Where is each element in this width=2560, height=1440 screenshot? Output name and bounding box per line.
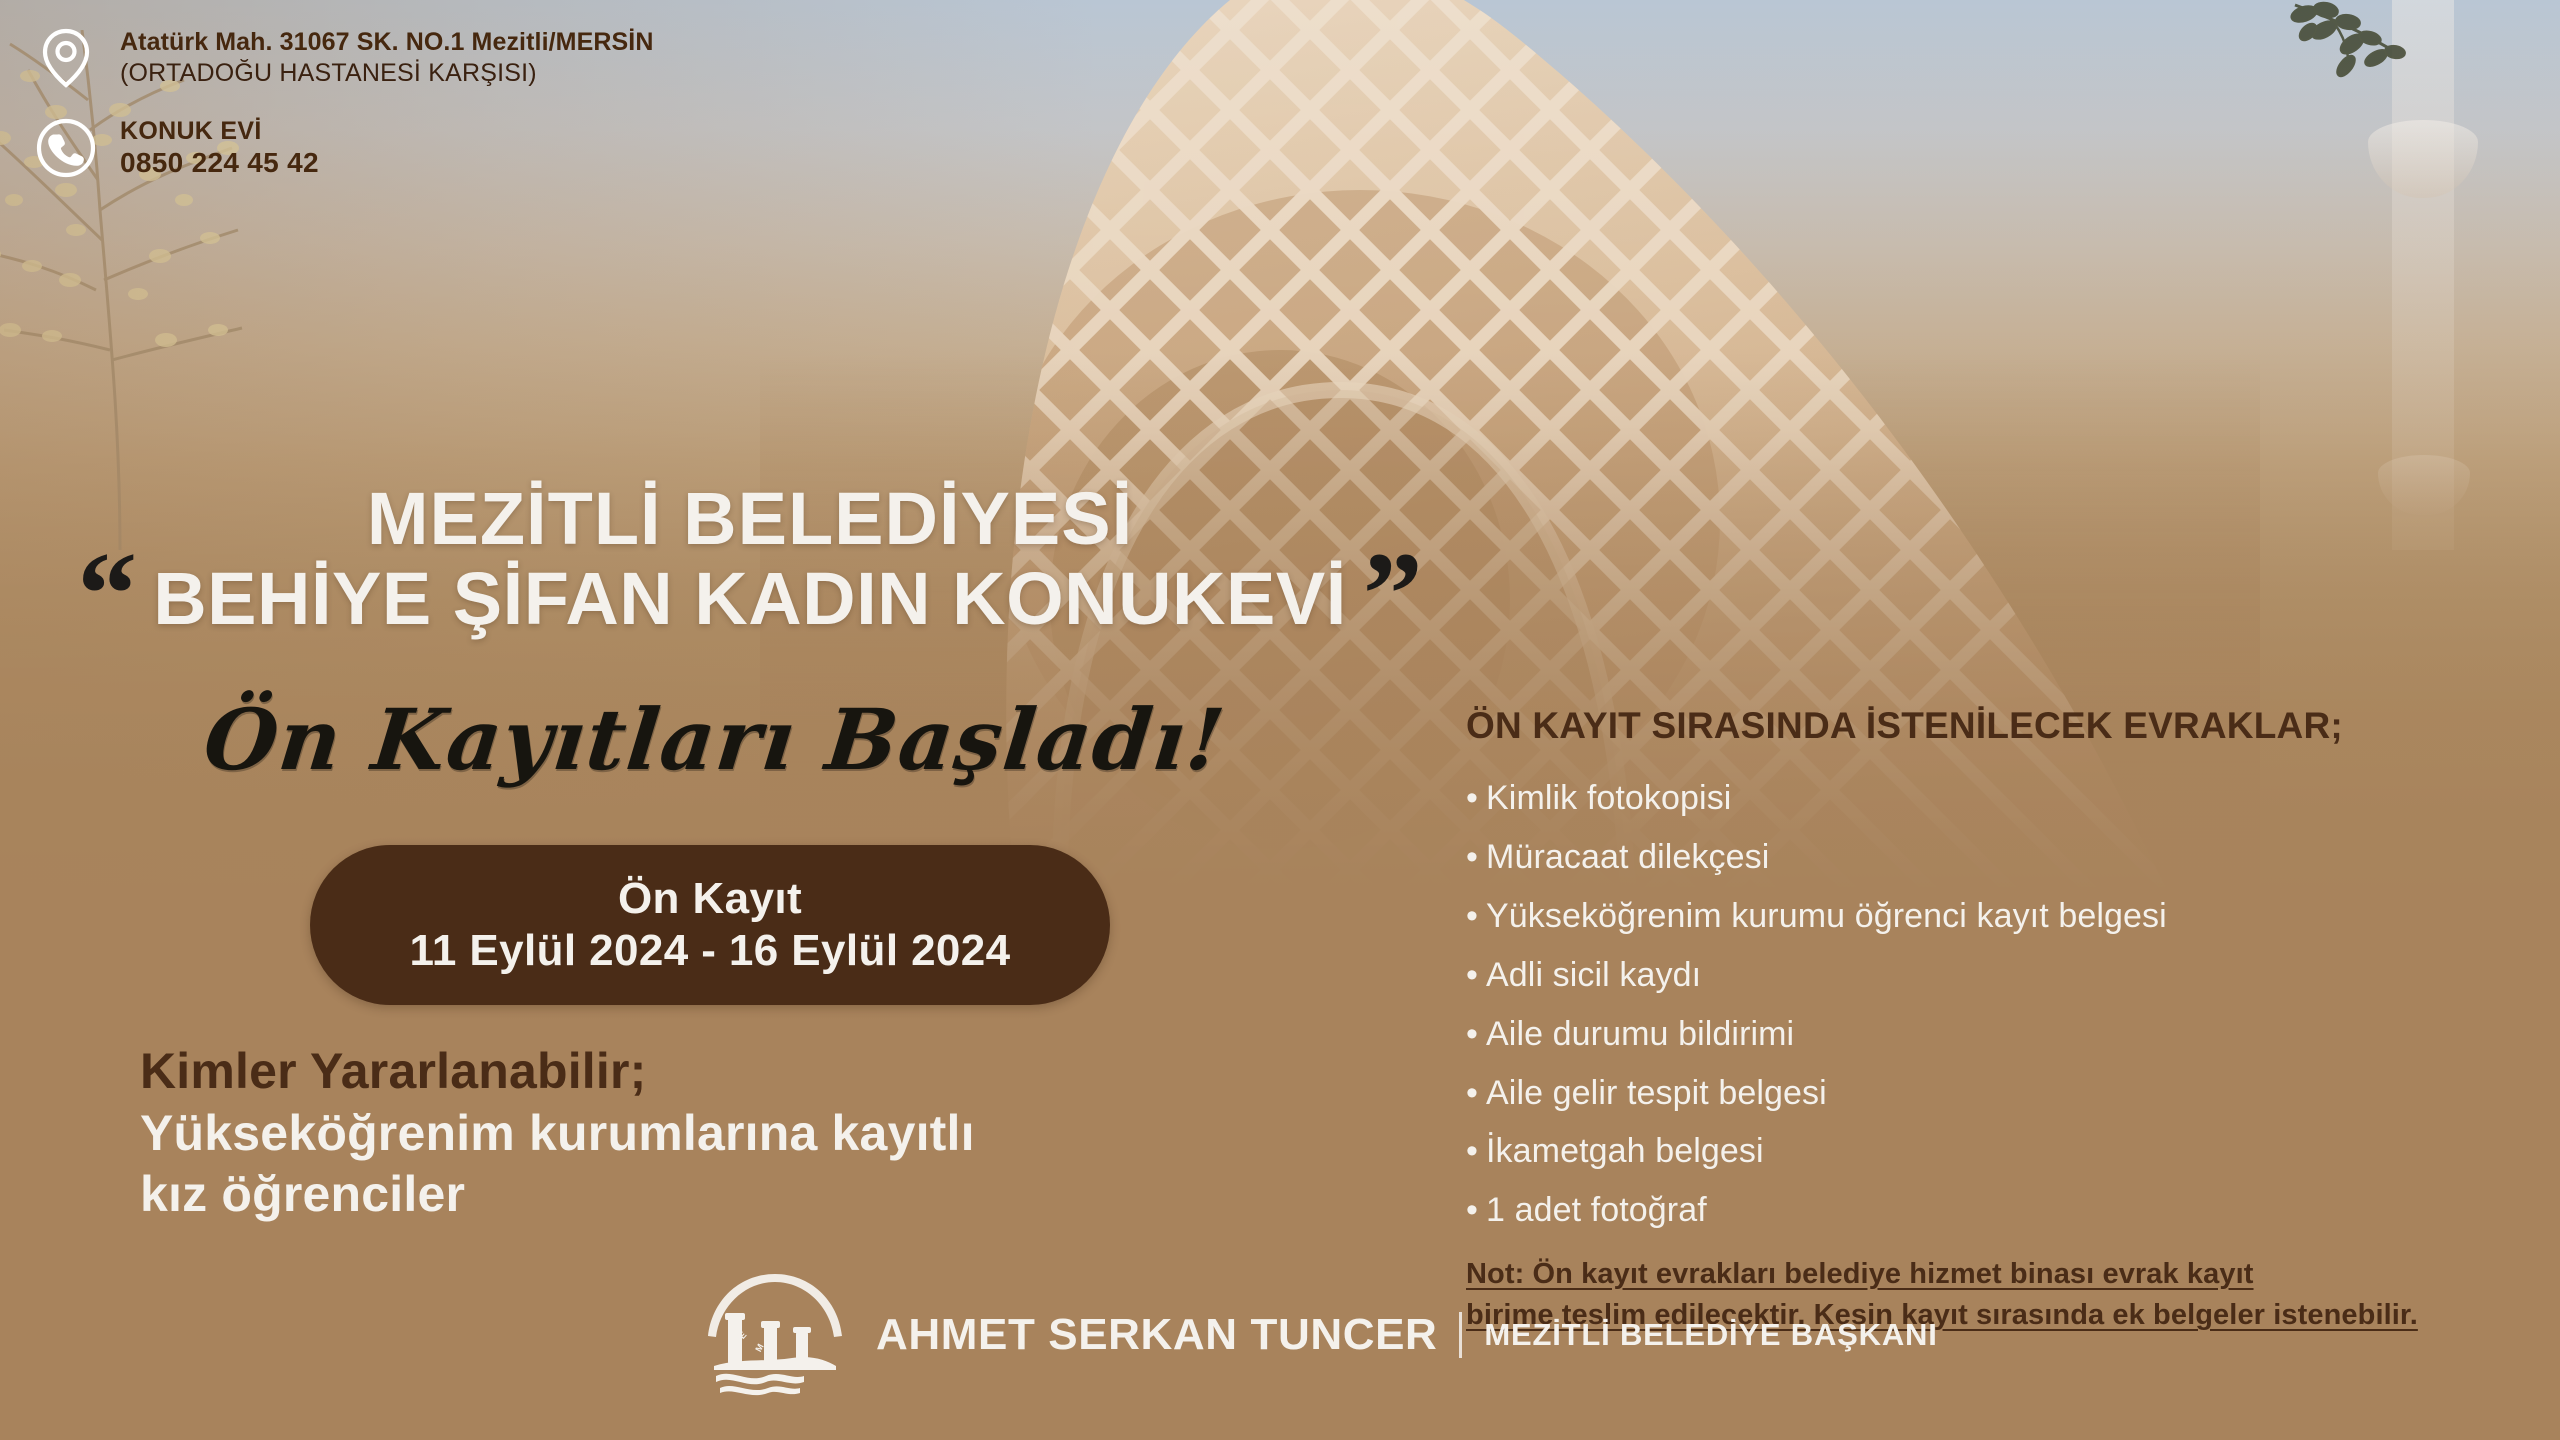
document-list-item: •Aile gelir tespit belgesi: [1466, 1070, 2546, 1117]
bullet-icon: •: [1466, 838, 1478, 876]
document-list-item-label: Kimlik fotokopisi: [1486, 779, 1731, 817]
bullet-icon: •: [1466, 1132, 1478, 1170]
quote-close-mark: ”: [1363, 534, 1423, 654]
bullet-icon: •: [1466, 1015, 1478, 1053]
document-list-item: •1 adet fotoğraf: [1466, 1187, 2546, 1234]
bullet-icon: •: [1466, 897, 1478, 935]
location-pin-icon: [34, 26, 98, 90]
headline-quoted-wrap: “ BEHİYE ŞİFAN KADIN KONUKEVİ ”: [95, 560, 1405, 638]
bullet-icon: •: [1466, 956, 1478, 994]
mayor-role: MEZİTLİ BELEDİYE BAŞKANI: [1484, 1317, 1937, 1353]
document-list-item-label: 1 adet fotoğraf: [1486, 1191, 1707, 1229]
document-list-item: •İkametgah belgesi: [1466, 1128, 2546, 1175]
document-list-item-label: İkametgah belgesi: [1486, 1132, 1764, 1170]
headline-line-1: MEZİTLİ BELEDİYESİ: [0, 480, 1500, 558]
document-list-item: •Kimlik fotokopisi: [1466, 775, 2546, 822]
document-list-item: •Aile durumu bildirimi: [1466, 1011, 2546, 1058]
mayor-name: AHMET SERKAN TUNCER: [876, 1310, 1437, 1360]
footer-block: M E AHMET SERKAN TUNCER MEZİTLİ BELEDİYE…: [700, 1270, 1938, 1400]
eligibility-line-1: Yükseköğrenim kurumlarına kayıtlı: [140, 1103, 975, 1164]
address-line-1: Atatürk Mah. 31067 SK. NO.1 Mezitli/MERS…: [120, 28, 654, 58]
bullet-icon: •: [1466, 1074, 1478, 1112]
quote-open-mark: “: [77, 534, 137, 654]
pill-line-1: Ön Kayıt: [618, 873, 802, 925]
documents-heading: ÖN KAYIT SIRASINDA İSTENİLECEK EVRAKLAR;: [1466, 705, 2546, 747]
phone-icon: [34, 116, 98, 180]
mezitli-belediyesi-logo-icon: M E: [700, 1270, 850, 1400]
footer-separator: [1459, 1312, 1462, 1358]
contact-block: Atatürk Mah. 31067 SK. NO.1 Mezitli/MERS…: [34, 26, 654, 206]
bullet-icon: •: [1466, 779, 1478, 817]
pill-line-2: 11 Eylül 2024 - 16 Eylül 2024: [409, 925, 1010, 977]
address-line-2: (ORTADOĞU HASTANESİ KARŞISI): [120, 58, 654, 89]
svg-text:M: M: [753, 1342, 765, 1353]
eligibility-block: Kimler Yararlanabilir; Yükseköğrenim kur…: [140, 1040, 975, 1225]
phone-text: KONUK EVİ 0850 224 45 42: [120, 116, 319, 180]
phone-number[interactable]: 0850 224 45 42: [120, 146, 319, 180]
phone-row[interactable]: KONUK EVİ 0850 224 45 42: [34, 116, 654, 180]
headline-block: MEZİTLİ BELEDİYESİ “ BEHİYE ŞİFAN KADIN …: [0, 480, 1500, 639]
document-list-item-label: Adli sicil kaydı: [1486, 956, 1701, 994]
eligibility-heading: Kimler Yararlanabilir;: [140, 1040, 975, 1103]
address-text: Atatürk Mah. 31067 SK. NO.1 Mezitli/MERS…: [120, 28, 654, 88]
bullet-icon: •: [1466, 1191, 1478, 1229]
document-list-item: •Yükseköğrenim kurumu öğrenci kayıt belg…: [1466, 893, 2546, 940]
poster-canvas: Atatürk Mah. 31067 SK. NO.1 Mezitli/MERS…: [0, 0, 2560, 1440]
headline-line-2: BEHİYE ŞİFAN KADIN KONUKEVİ: [95, 557, 1405, 640]
eligibility-line-2: kız öğrenciler: [140, 1164, 975, 1225]
registration-date-pill: Ön Kayıt 11 Eylül 2024 - 16 Eylül 2024: [310, 845, 1110, 1005]
documents-list: •Kimlik fotokopisi•Müracaat dilekçesi•Yü…: [1466, 775, 2546, 1234]
document-list-item-label: Aile durumu bildirimi: [1486, 1015, 1794, 1053]
document-list-item: •Adli sicil kaydı: [1466, 952, 2546, 999]
document-list-item: •Müracaat dilekçesi: [1466, 834, 2546, 881]
footer-text: AHMET SERKAN TUNCER MEZİTLİ BELEDİYE BAŞ…: [876, 1310, 1938, 1360]
phone-label: KONUK EVİ: [120, 116, 319, 146]
document-list-item-label: Müracaat dilekçesi: [1486, 838, 1769, 876]
document-list-item-label: Yükseköğrenim kurumu öğrenci kayıt belge…: [1486, 897, 2167, 935]
document-list-item-label: Aile gelir tespit belgesi: [1486, 1074, 1827, 1112]
address-row: Atatürk Mah. 31067 SK. NO.1 Mezitli/MERS…: [34, 26, 654, 90]
script-title: Ön Kayıtları Başladı!: [0, 690, 1435, 789]
documents-block: ÖN KAYIT SIRASINDA İSTENİLECEK EVRAKLAR;…: [1466, 705, 2546, 1337]
